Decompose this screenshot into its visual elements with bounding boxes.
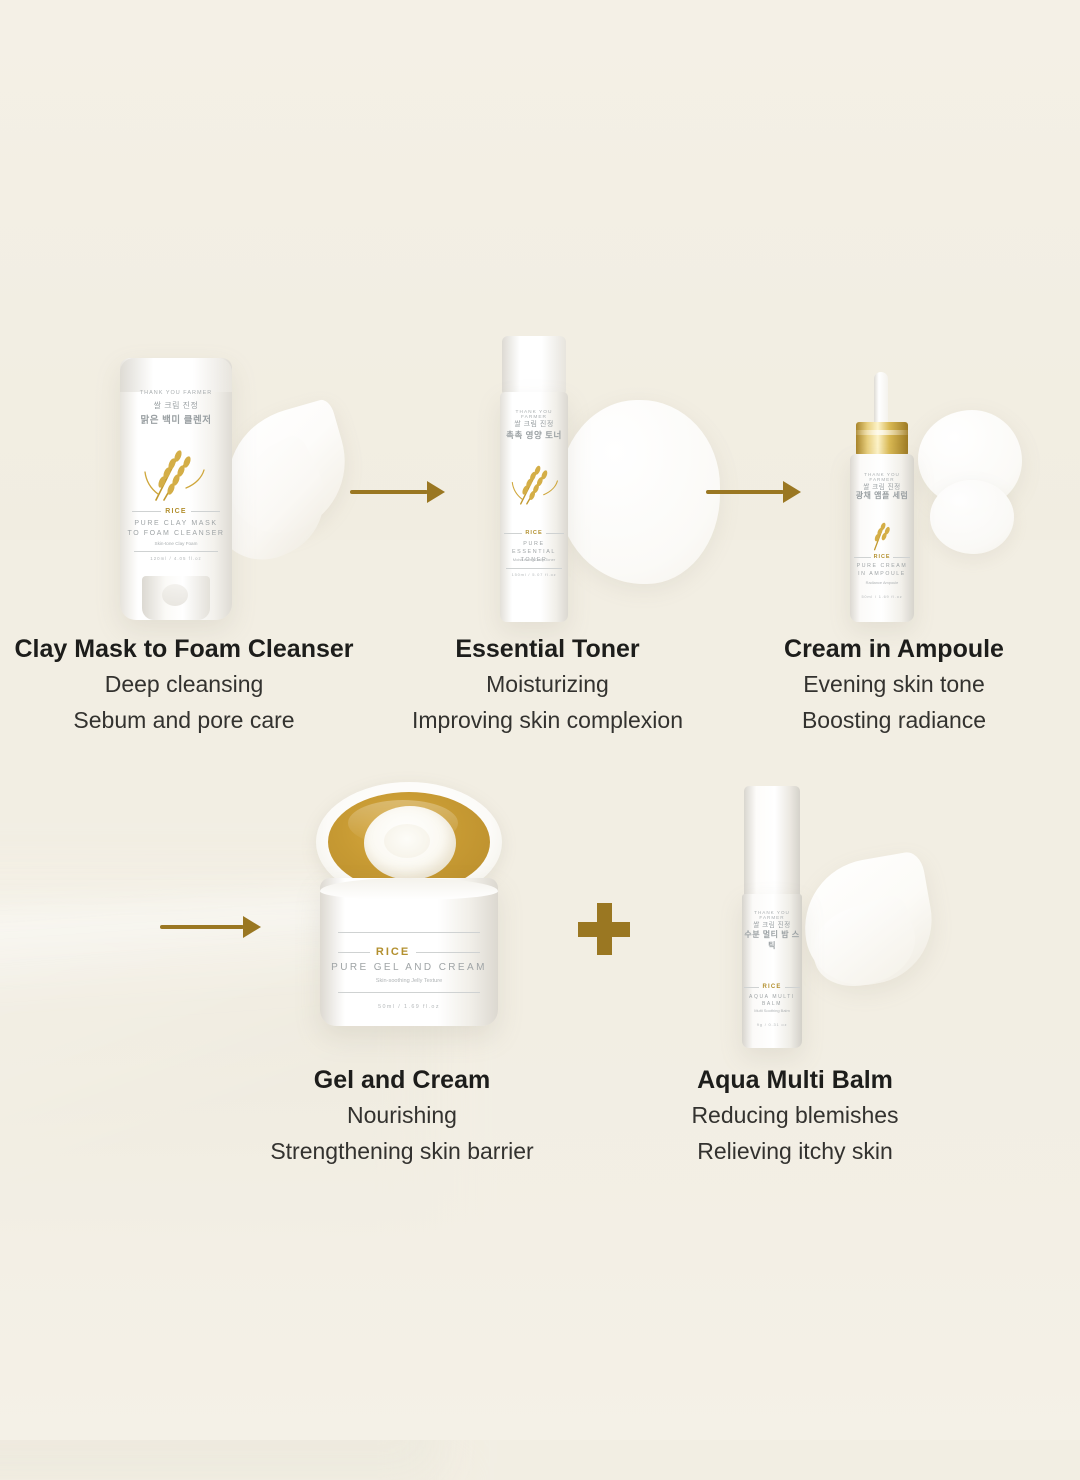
jar-divider-top xyxy=(338,932,480,933)
ampoule-range-label: RICE xyxy=(874,554,891,560)
balm-product-name: AQUA MULTI BALM xyxy=(740,994,804,1009)
product-image-gel-and-cream: RICE PURE GEL AND CREAM Skin-soothing Je… xyxy=(296,782,526,1050)
bottle-range-row: RICE xyxy=(504,530,564,536)
step-benefit-2: Relieving itchy skin xyxy=(625,1133,965,1169)
step-benefit-1: Evening skin tone xyxy=(735,666,1053,702)
tube-range-row: RICE xyxy=(132,508,220,515)
tube-brand-text: THANK YOU FARMER xyxy=(130,390,222,396)
tube-korean-line-2: 맑은 백미 클렌저 xyxy=(130,412,222,426)
dropper-bulb xyxy=(874,372,888,426)
ampoule-product-name-line1: PURE CREAM xyxy=(857,563,908,569)
balm-range-row: RICE xyxy=(744,984,800,990)
product-image-cream-in-ampoule: THANK YOU FARMER 쌀 크림 진정 광채 앰플 세럼 RICE P… xyxy=(826,372,1046,622)
balm-korean-line-1: 쌀 크림 진정 xyxy=(742,919,802,929)
step-benefit-2: Improving skin complexion xyxy=(375,702,720,738)
step-benefit-2: Sebum and pore care xyxy=(0,702,368,738)
tube-volume: 120ml / 4.05 fl.oz xyxy=(126,556,226,561)
plus-icon-step4-and-step5 xyxy=(578,903,630,955)
step-benefit-1: Nourishing xyxy=(232,1097,572,1133)
jar-volume: 50ml / 1.69 fl.oz xyxy=(330,1004,488,1010)
bottle-descriptor: Moisturizing Daily Toner xyxy=(500,557,568,562)
ampoule-product-name-line2: IN AMPOULE xyxy=(858,571,906,577)
tube-shoulder xyxy=(120,358,232,392)
tube-product-name-line2: TO FOAM CLEANSER xyxy=(127,530,224,537)
ampoule-product-name: PURE CREAM IN AMPOULE xyxy=(850,563,914,578)
caption-gel-and-cream: Gel and Cream Nourishing Strengthening s… xyxy=(232,1063,572,1169)
balm-korean-line-2: 수분 멀티 밤 스틱 xyxy=(742,929,802,951)
bottle-korean-line-2: 촉촉 영양 토너 xyxy=(502,429,566,441)
tube-korean-line-1: 쌀 크림 진정 xyxy=(130,400,222,411)
balm-range-label: RICE xyxy=(762,984,781,990)
bottle-volume: 150ml / 5.07 fl.oz xyxy=(500,572,568,577)
product-image-essential-toner: THANK YOU FARMER 쌀 크림 진정 촉촉 영양 토너 xyxy=(486,336,716,622)
ampoule-volume: 50ml / 1.69 fl.oz xyxy=(850,594,914,599)
jar-range-row: RICE xyxy=(338,946,480,958)
toner-cream-swatch xyxy=(558,400,720,584)
jar-body-top-highlight xyxy=(320,878,498,900)
step-title: Aqua Multi Balm xyxy=(625,1063,965,1097)
step-title: Gel and Cream xyxy=(232,1063,572,1097)
routine-infographic: THANK YOU FARMER 쌀 크림 진정 맑은 백미 클렌저 xyxy=(0,0,1080,1440)
step-benefit-1: Moisturizing xyxy=(375,666,720,702)
bottle-divider xyxy=(506,568,562,569)
rice-stalk-icon xyxy=(510,456,562,512)
jar-divider-bottom xyxy=(338,992,480,993)
product-image-aqua-multi-balm: THANK YOU FARMER 쌀 크림 진정 수분 멀티 밤 스틱 RICE… xyxy=(708,786,908,1048)
jar-product-name: PURE GEL AND CREAM xyxy=(330,962,488,973)
rice-stalk-icon xyxy=(142,444,210,504)
tube-descriptor: Skin-tone Clay Foam xyxy=(126,541,226,546)
caption-cream-in-ampoule: Cream in Ampoule Evening skin tone Boost… xyxy=(735,632,1053,738)
tube-product-name-line1: PURE CLAY MASK xyxy=(134,520,217,527)
caption-essential-toner: Essential Toner Moisturizing Improving s… xyxy=(375,632,720,738)
balm-descriptor: Multi Soothing Balm xyxy=(740,1008,804,1013)
bottle-korean-line-1: 쌀 크림 진정 xyxy=(502,419,566,429)
ampoule-cream-swatch-lower xyxy=(930,480,1014,554)
ampoule-range-row: RICE xyxy=(854,554,910,560)
step-benefit-1: Deep cleansing xyxy=(0,666,368,702)
bottle-cap xyxy=(502,336,566,394)
cream-swirl-center xyxy=(384,824,430,858)
caption-aqua-multi-balm: Aqua Multi Balm Reducing blemishes Relie… xyxy=(625,1063,965,1169)
jar-range-label: RICE xyxy=(376,946,410,958)
step-benefit-2: Strengthening skin barrier xyxy=(232,1133,572,1169)
step-benefit-1: Reducing blemishes xyxy=(625,1097,965,1133)
tube-product-name: PURE CLAY MASK TO FOAM CLEANSER xyxy=(126,519,226,539)
arrow-right-icon-step2-to-step3 xyxy=(706,481,801,503)
arrow-right-icon-step1-to-step2 xyxy=(350,481,445,503)
gold-collar xyxy=(856,422,908,456)
balm-volume: 9g / 0.31 oz xyxy=(740,1022,804,1027)
arrow-right-icon-step3-to-step4 xyxy=(160,916,261,938)
ampoule-descriptor: Radiance Ampoule xyxy=(850,580,914,585)
rice-stalk-icon xyxy=(864,516,900,556)
tube-cap-notch xyxy=(162,584,188,606)
tube-range-label: RICE xyxy=(165,508,187,515)
balm-cap xyxy=(744,786,800,898)
tube-divider xyxy=(134,551,218,552)
product-image-clay-mask-to-foam-cleanser: THANK YOU FARMER 쌀 크림 진정 맑은 백미 클렌저 xyxy=(112,358,352,620)
step-title: Clay Mask to Foam Cleanser xyxy=(0,632,368,666)
caption-clay-mask-to-foam-cleanser: Clay Mask to Foam Cleanser Deep cleansin… xyxy=(0,632,368,738)
bottle-range-label: RICE xyxy=(525,530,542,536)
gold-collar-highlight xyxy=(856,430,908,435)
jar-descriptor: Skin-soothing Jelly Texture xyxy=(330,978,488,984)
step-title: Essential Toner xyxy=(375,632,720,666)
step-benefit-2: Boosting radiance xyxy=(735,702,1053,738)
step-title: Cream in Ampoule xyxy=(735,632,1053,666)
ampoule-korean-line-2: 광채 앰플 세럼 xyxy=(852,490,912,501)
